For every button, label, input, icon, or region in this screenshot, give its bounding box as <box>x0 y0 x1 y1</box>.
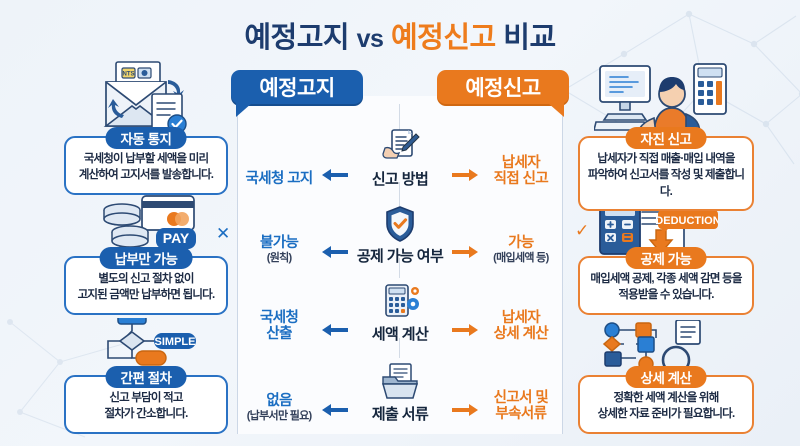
envelope-notice-icon: NTS <box>92 58 200 136</box>
row-left-value: 국세청 고지 <box>237 171 321 189</box>
folder-document-icon <box>379 363 421 401</box>
right-card-badge: 상세 계산 <box>626 366 707 388</box>
row-left-value: 없음 (납부서만 필요) <box>237 393 321 424</box>
row-center-label: 공제 가능 여부 <box>357 248 443 265</box>
title-part1: 예정고지 <box>244 22 349 54</box>
person-computer-icon <box>594 56 730 138</box>
svg-text:NTS: NTS <box>123 72 135 78</box>
document-pen-icon <box>378 128 422 166</box>
pay-tag-label: PAY <box>163 230 190 246</box>
header-badge-notice-label: 예정고지 <box>259 72 334 102</box>
connector-line <box>399 104 400 130</box>
row-left-main: 불가능 <box>237 235 321 252</box>
right-card-self-report: 자진 신고 납세자가 직접 매출·매입 내역을 파악하여 신고서를 작성 및 제… <box>578 136 754 211</box>
row-right-main: 납세자 직접 신고 <box>479 155 563 188</box>
left-card-text: 국세청이 납부할 세액을 미리 계산하여 고지서를 발송합니다. <box>72 151 220 184</box>
row-center-label: 신고 방법 <box>372 171 428 188</box>
arrow-left-icon <box>321 168 348 189</box>
arrow-right-icon <box>451 323 478 344</box>
comparison-row: 없음 (납부서만 필요) 제출 서류 신고서 및 부속서류 <box>237 363 563 424</box>
arrow-left-icon <box>321 323 348 344</box>
arrow-right-icon <box>451 245 478 266</box>
row-left-main: 국세청 고지 <box>237 171 321 188</box>
row-left-main: 국세청 산출 <box>237 310 321 343</box>
calculator-gear-icon <box>378 283 422 321</box>
row-right-main: 납세자 상세 계산 <box>479 310 563 343</box>
shield-check-icon <box>383 205 417 243</box>
infographic-canvas: 예정고지 vs 예정신고 비교 예정고지 예정신고 국세청 고지 <box>0 0 800 446</box>
row-center: 세액 계산 <box>349 283 452 344</box>
left-card-text: 신고 부담이 적고 절차가 간소합니다. <box>72 390 220 423</box>
row-center: 공제 가능 여부 <box>349 205 452 266</box>
arrow-left-icon <box>321 403 348 424</box>
arrow-left-icon <box>321 245 348 266</box>
row-right-main: 가능 <box>479 235 563 252</box>
cross-mark-icon: ✕ <box>216 225 230 242</box>
badge-tail <box>548 103 564 117</box>
arrow-right-icon <box>451 168 478 189</box>
right-card-text: 매입세액 공제, 각종 세액 감면 등을 적용받을 수 있습니다. <box>586 271 746 304</box>
row-right-sub: (매입세액 등) <box>479 252 563 265</box>
row-right-value: 납세자 상세 계산 <box>479 310 563 344</box>
right-card-text: 정확한 세액 계산을 위해 상세한 자료 준비가 필요합니다. <box>586 390 746 423</box>
row-left-sub: (원칙) <box>237 252 321 265</box>
arrow-right-icon <box>451 403 478 424</box>
left-card-badge: 자동 통지 <box>106 127 187 149</box>
row-center-label: 제출 서류 <box>372 406 428 423</box>
row-center: 제출 서류 <box>349 363 452 424</box>
header-badge-notice: 예정고지 <box>231 70 363 104</box>
row-right-value: 가능 (매입세액 등) <box>479 235 563 266</box>
row-right-value: 납세자 직접 신고 <box>479 155 563 189</box>
comparison-row: 국세청 고지 신고 방법 납세자 직접 신고 <box>237 128 563 189</box>
row-left-value: 불가능 (원칙) <box>237 235 321 266</box>
right-card-badge: 공제 가능 <box>626 247 707 269</box>
left-card-text: 별도의 신고 절차 없이 고지된 금액만 납부하면 됩니다. <box>72 271 220 304</box>
row-center: 신고 방법 <box>349 128 452 189</box>
comparison-row: 불가능 (원칙) 공제 가능 여부 가능 (매입세액 등) <box>237 205 563 266</box>
left-card-badge: 간편 절차 <box>106 366 187 388</box>
row-left-sub: (납부서만 필요) <box>237 410 321 423</box>
header-badge-report: 예정신고 <box>437 70 569 104</box>
title-vs: vs <box>357 25 384 53</box>
row-right-value: 신고서 및 부속서류 <box>479 390 563 424</box>
row-left-value: 국세청 산출 <box>237 310 321 344</box>
header-badge-report-label: 예정신고 <box>465 72 540 102</box>
left-card-badge: 납부만 가능 <box>100 247 193 269</box>
right-card-deduction: 공제 가능 매입세액 공제, 각종 세액 감면 등을 적용받을 수 있습니다. <box>578 256 754 315</box>
right-card-badge: 자진 신고 <box>626 127 707 149</box>
right-card-detailed-calc: 상세 계산 정확한 세액 계산을 위해 상세한 자료 준비가 필요합니다. <box>578 375 754 434</box>
left-card-simple-process: 간편 절차 신고 부담이 적고 절차가 간소합니다. <box>64 375 228 434</box>
row-right-main: 신고서 및 부속서류 <box>479 390 563 423</box>
right-card-text: 납세자가 직접 매출·매입 내역을 파악하여 신고서를 작성 및 제출합니다. <box>586 151 746 200</box>
deduction-tag-label: DEDUCTION <box>655 215 718 227</box>
left-card-auto-notice: 자동 통지 국세청이 납부할 세액을 미리 계산하여 고지서를 발송합니다. <box>64 136 228 195</box>
title-part2: 예정신고 <box>391 22 496 54</box>
row-left-main: 없음 <box>237 393 321 410</box>
page-title: 예정고지 vs 예정신고 비교 <box>0 14 800 56</box>
check-mark-icon: ✓ <box>575 222 589 239</box>
comparison-row: 국세청 산출 세액 계산 <box>237 283 563 344</box>
badge-tail <box>236 103 252 117</box>
row-center-label: 세액 계산 <box>372 326 428 343</box>
simple-tag-label: SIMPLE <box>155 336 196 348</box>
title-part3: 비교 <box>503 22 555 54</box>
left-card-payment-only: 납부만 가능 별도의 신고 절차 없이 고지된 금액만 납부하면 됩니다. <box>64 256 228 315</box>
